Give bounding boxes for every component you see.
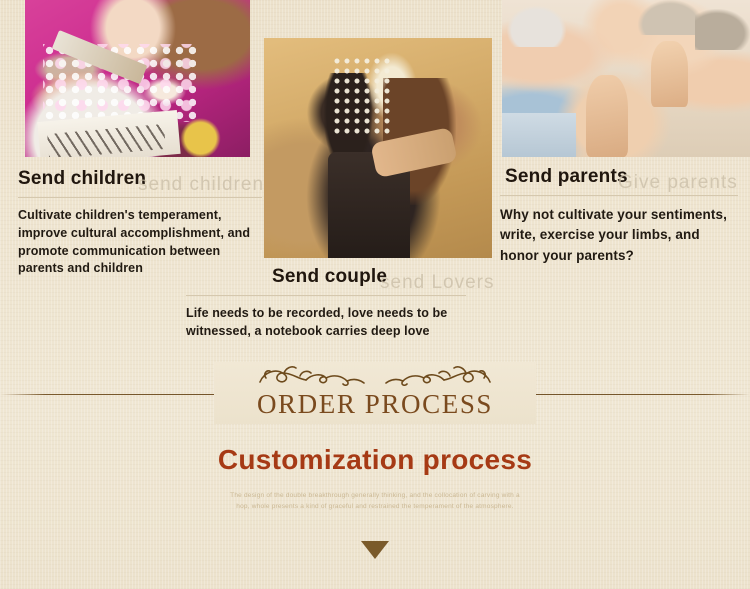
photo-children-image: [25, 0, 250, 157]
page-background: Send children send children Cultivate ch…: [0, 0, 750, 589]
elder-woman-hair-shape: [638, 0, 702, 35]
thumbs-up-icon: [586, 75, 628, 157]
order-process-title: ORDER PROCESS: [257, 391, 493, 424]
down-arrow-icon: [361, 541, 389, 559]
photo-send-children: [25, 0, 250, 157]
thumbs-up-icon: [651, 41, 688, 107]
card-send-parents: Send parents Give parents Why not cultiv…: [500, 166, 738, 266]
flourish-ornament-icon: [214, 362, 536, 392]
photo-send-couple: [264, 38, 492, 258]
photo-couple-image: [264, 38, 492, 258]
card-children-ghost-heading: send children: [138, 174, 264, 196]
card-couple-divider: [186, 295, 466, 296]
elder-man-hair-shape: [507, 6, 567, 47]
customization-process-title: Customization process: [0, 444, 750, 476]
card-parents-heading-row: Send parents Give parents: [500, 166, 738, 192]
card-parents-body: Why not cultivate your sentiments, write…: [500, 205, 738, 266]
card-parents-ghost-heading: Give parents: [618, 172, 738, 194]
shirt-shape: [502, 113, 576, 157]
card-couple-ghost-heading: send Lovers: [380, 272, 495, 294]
card-children-heading-row: Send children send children: [18, 168, 262, 194]
card-couple-body: Life needs to be recorded, love needs to…: [186, 305, 464, 341]
customization-fine-print: The design of the double breakthrough ge…: [225, 490, 525, 513]
card-children-divider: [18, 197, 262, 198]
card-couple-heading: Send couple: [272, 266, 387, 288]
flower-crown-shape: [332, 56, 391, 135]
elder-woman2-hair-shape: [695, 9, 750, 50]
card-children-heading: Send children: [18, 168, 146, 190]
order-process-banner: ORDER PROCESS: [214, 362, 536, 424]
card-send-couple: Send couple send Lovers Life needs to be…: [186, 266, 466, 341]
card-send-children: Send children send children Cultivate ch…: [18, 168, 262, 278]
card-parents-divider: [500, 195, 738, 196]
card-parents-heading: Send parents: [505, 166, 628, 188]
photo-parents-image: [502, 0, 750, 157]
photo-send-parents: [502, 0, 750, 157]
card-couple-heading-row: Send couple send Lovers: [186, 266, 466, 292]
